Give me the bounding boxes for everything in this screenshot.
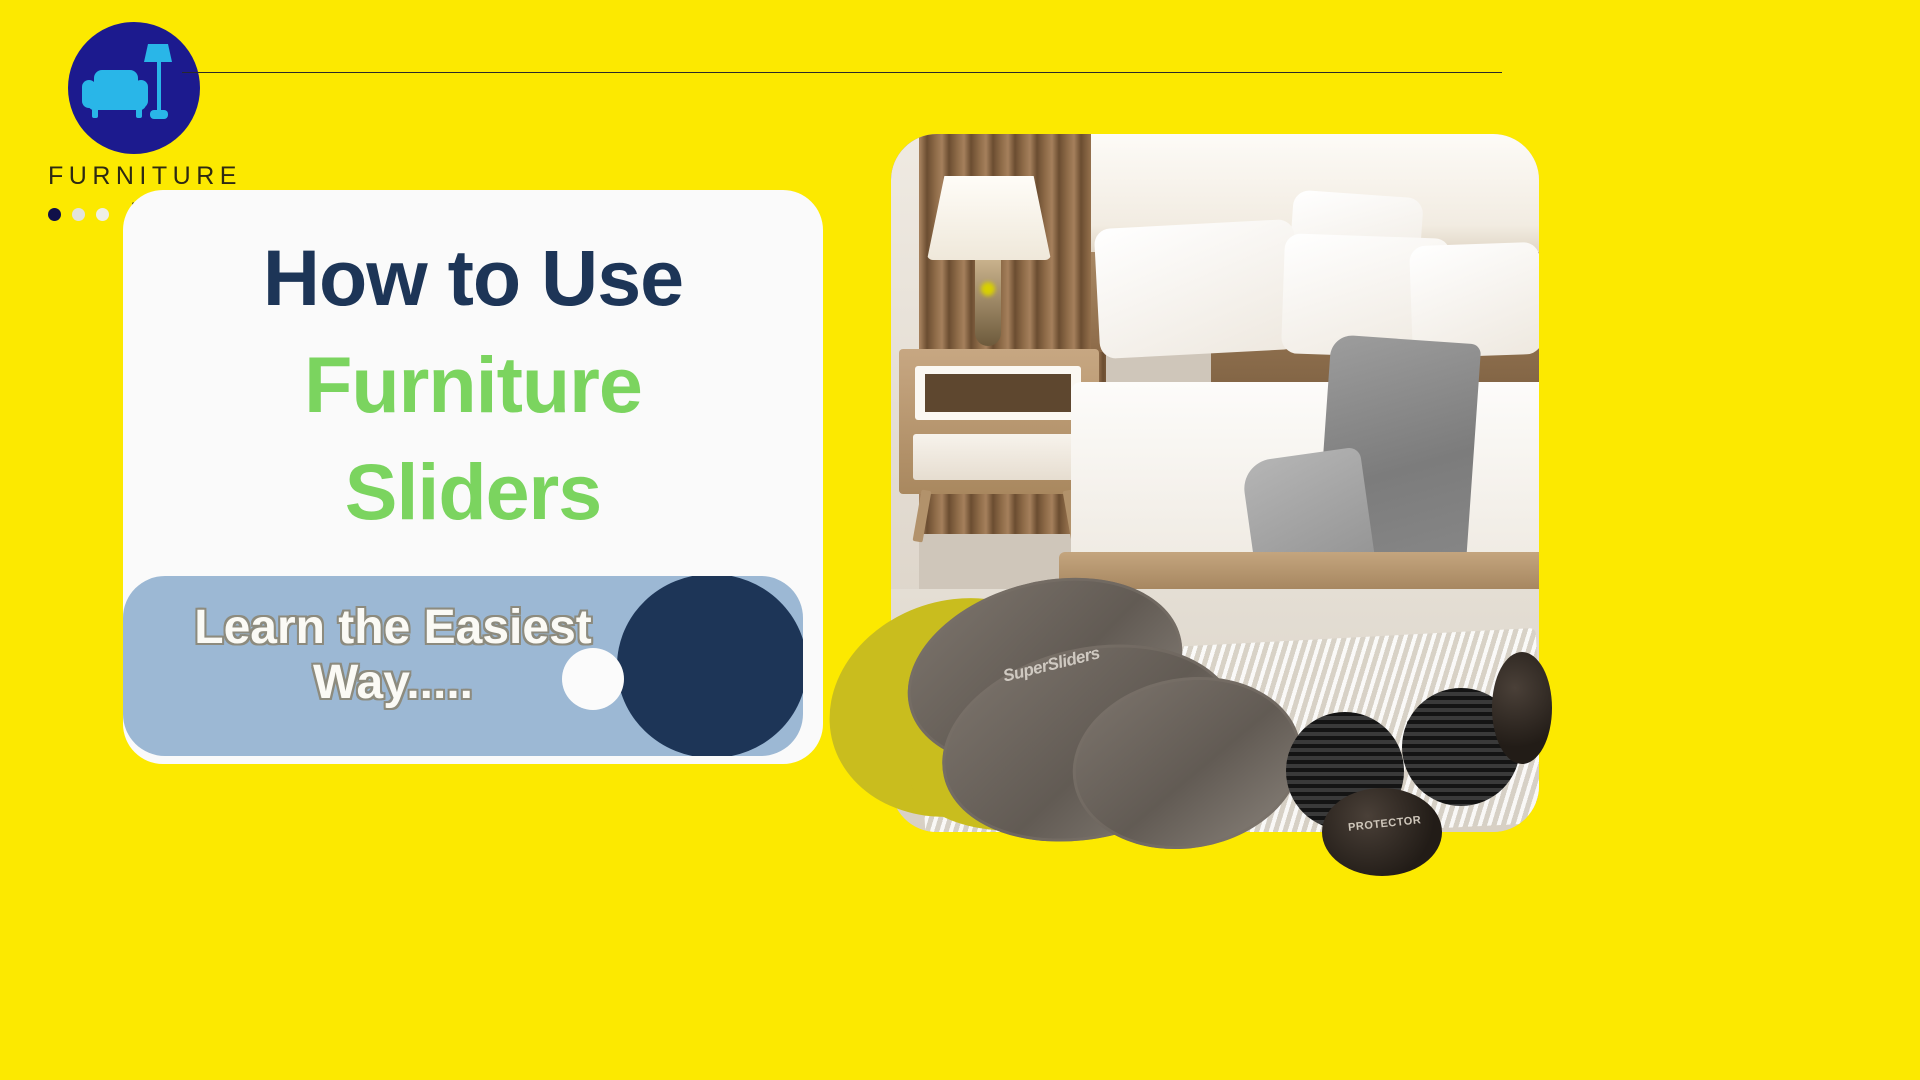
headline-line-1: How to Use: [123, 238, 823, 317]
lamp-shade: [927, 176, 1051, 260]
cta-toggle-knob-dot: [562, 648, 624, 710]
nightstand-drawer: [913, 434, 1085, 480]
felt-disc-edge: [1492, 652, 1552, 764]
header-divider-rule: [182, 72, 1502, 73]
headline-line-2: Furniture: [123, 345, 823, 424]
logo-circle-badge: [68, 22, 200, 154]
logo-dot-2: [72, 208, 85, 221]
cta-pill-banner[interactable]: Learn the Easiest Way.....: [123, 576, 803, 756]
cta-toggle-knob[interactable]: [617, 576, 803, 756]
nightstand-niche-inner: [925, 374, 1071, 412]
cta-text-line-1: Learn the Easiest: [123, 600, 663, 655]
lamp-glow: [981, 282, 995, 296]
brand-logo[interactable]: FURNITURE PERK: [48, 22, 238, 212]
sofa-and-floor-lamp-icon: [68, 22, 200, 154]
logo-dot-1: [48, 208, 61, 221]
felt-disc-front: [1322, 788, 1442, 876]
headline-line-3: Sliders: [123, 452, 823, 531]
logo-dot-3: [96, 208, 109, 221]
lamp-base: [975, 260, 1001, 346]
pillow-1: [1094, 219, 1301, 359]
logo-wordmark-top: FURNITURE: [48, 162, 238, 191]
